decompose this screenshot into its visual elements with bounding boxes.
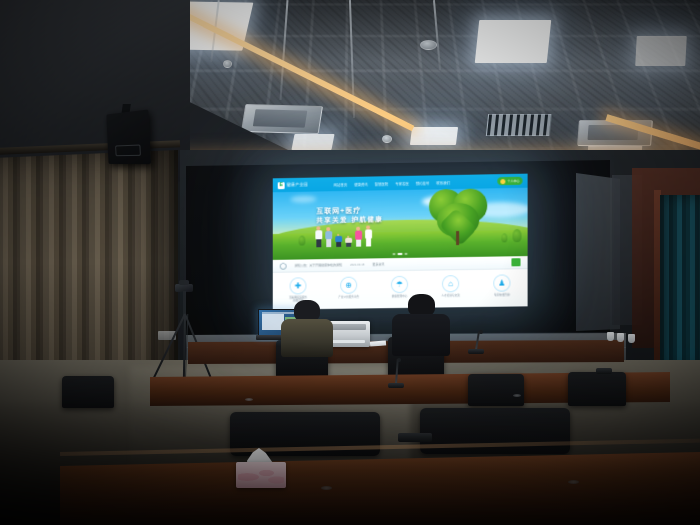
bottom	[366, 238, 371, 246]
user-avatar-icon	[501, 179, 506, 184]
conference-microphone	[388, 358, 406, 388]
nav-item-hospital[interactable]: 智慧医院	[375, 181, 389, 186]
camera-tripod	[150, 284, 230, 390]
mic-base	[596, 368, 612, 374]
chair	[62, 376, 114, 408]
bottom	[346, 243, 351, 247]
notice-date: 2021-03-18	[350, 263, 364, 267]
bottom	[326, 239, 331, 247]
hero-headline: 互联网+医疗 共享关爱 护航健康	[316, 206, 383, 225]
tree-trunk	[456, 231, 459, 245]
tripod-leg	[150, 314, 186, 385]
bottom	[316, 239, 321, 247]
carousel-dot[interactable]	[404, 253, 407, 255]
grass-field	[273, 230, 528, 260]
user-center-button[interactable]: 个人中心	[498, 177, 523, 185]
site-nav-items: 网站首页 健康资讯 智慧医院 专家名医 预约挂号 联系我们	[334, 180, 450, 187]
service-icon-circle: ⊕	[340, 277, 357, 294]
mic-base	[468, 349, 484, 354]
service-label: 专家在线咨询	[483, 293, 521, 297]
service-item[interactable]: ♟专家在线咨询	[483, 274, 521, 297]
desk-grommet	[245, 398, 253, 401]
paper-cup	[628, 334, 635, 343]
paper-cup	[607, 332, 614, 341]
service-label: 产业公共服务平台	[330, 295, 368, 299]
top	[365, 229, 372, 238]
nav-item-contact[interactable]: 联系我们	[436, 180, 450, 185]
conference-room-photo: E 健康产业园 网站首页 健康资讯 智慧医院 专家名医 预约挂号 联系我们 个人…	[0, 0, 700, 525]
top	[325, 231, 332, 240]
notice-more-link[interactable]: 更多资讯	[372, 262, 384, 266]
mic-base	[388, 383, 404, 388]
service-icon-circle: ☂	[391, 276, 408, 293]
conference-microphone	[398, 428, 432, 442]
top	[315, 230, 322, 239]
heart-shaped-tree	[427, 188, 489, 242]
nav-item-news[interactable]: 健康资讯	[354, 181, 368, 186]
umbrella-icon: ☂	[392, 277, 407, 292]
nav-item-home[interactable]: 网站首页	[334, 181, 347, 186]
user-center-label: 个人中心	[507, 179, 519, 183]
mic-gooseneck	[475, 331, 479, 350]
shrub	[512, 229, 521, 242]
bottom	[356, 239, 361, 247]
desk-grommet	[321, 486, 332, 490]
chair	[468, 374, 524, 406]
person-boy	[334, 234, 342, 247]
globe-icon: ⊕	[341, 278, 356, 293]
right-curtain	[660, 195, 700, 370]
nav-item-experts[interactable]: 专家名医	[395, 180, 409, 185]
paper-cup	[617, 333, 624, 342]
megaphone-icon	[280, 262, 287, 269]
shrub	[501, 233, 507, 242]
upload-icon: ⌂	[443, 276, 458, 291]
hero-headline-line-2: 共享关爱 护航健康	[316, 215, 383, 225]
carousel-dot[interactable]	[392, 253, 395, 255]
top	[355, 231, 362, 240]
service-icon-circle: ♟	[493, 274, 510, 291]
tissue-box	[236, 448, 286, 484]
mic-capsule	[479, 330, 483, 334]
person-daughter	[364, 225, 372, 246]
service-icon-circle: ✚	[290, 277, 307, 294]
attendee-left	[281, 300, 333, 356]
wall-speaker	[106, 109, 151, 164]
service-item[interactable]: ⊕产业公共服务平台	[330, 276, 368, 299]
nav-item-booking[interactable]: 预约挂号	[416, 180, 430, 185]
projected-website: E 健康产业园 网站首页 健康资讯 智慧医院 专家名医 预约挂号 联系我们 个人…	[273, 174, 528, 310]
family-illustration	[314, 225, 372, 247]
carousel-dot[interactable]	[397, 253, 402, 255]
shrub	[299, 236, 306, 246]
person-father	[314, 226, 322, 247]
cloud	[291, 195, 317, 202]
torso	[281, 319, 333, 357]
carousel-dots[interactable]	[392, 253, 407, 255]
medical-cross-icon: ✚	[291, 278, 306, 293]
tissue-box-body	[236, 462, 286, 488]
attendee-right	[392, 294, 450, 356]
mic-base	[398, 433, 432, 442]
service-icon-circle: ⌂	[442, 275, 459, 292]
user-shield-icon: ♟	[494, 275, 509, 290]
site-logo[interactable]: E 健康产业园	[278, 181, 308, 189]
bottom	[336, 242, 341, 247]
conference-microphone	[468, 330, 486, 354]
desk-grommet	[513, 394, 521, 397]
notice-action-button[interactable]	[511, 258, 520, 266]
person-little-boy	[344, 236, 352, 247]
torso	[392, 314, 450, 356]
person-grandfather	[324, 227, 332, 247]
logo-text: 健康产业园	[287, 182, 308, 188]
mic-gooseneck	[395, 359, 398, 384]
desk-grommet	[568, 480, 579, 484]
logo-mark-icon: E	[278, 182, 285, 189]
chair	[568, 372, 626, 406]
hero-banner: 互联网+医疗 共享关爱 护航健康	[273, 188, 528, 260]
conference-microphone	[596, 366, 612, 374]
person-mother	[354, 227, 362, 247]
notice-text[interactable]: 通知公告：关于开展健康体检的通知	[295, 263, 343, 268]
